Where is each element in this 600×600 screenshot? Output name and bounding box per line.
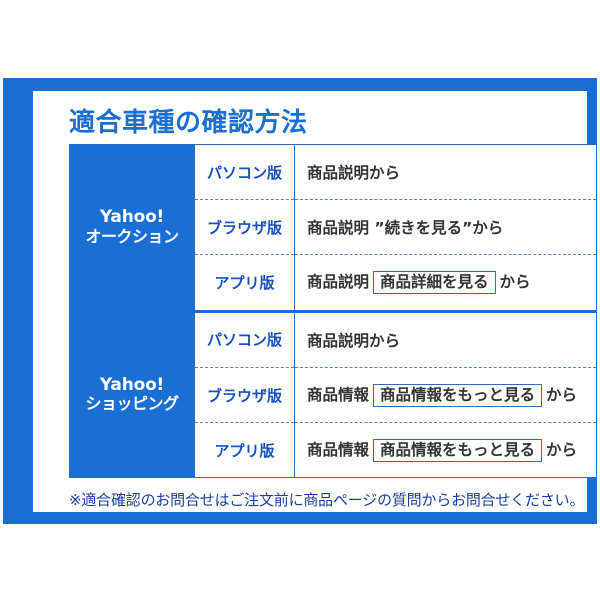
compatibility-table: Yahoo! オークション パソコン版 商品説明から ブラウザ版 商品説明 ”続… [69,144,597,478]
platform-label-browser: ブラウザ版 [195,200,295,255]
description-text-before: 商品情報 [307,386,369,404]
footer-note: ※適合確認のお問合せはご注文前に商品ページの質問からお問合せください。 [69,489,569,510]
description-cell: 商品説明から [295,145,597,200]
platform-label-app: アプリ版 [195,423,295,478]
brand-cell-shopping: Yahoo! ショッピング [70,313,195,478]
description-cell: 商品説明 ”続きを見る”から [295,200,597,255]
platform-label-pc: パソコン版 [195,313,295,368]
description-text-before: 商品説明から [307,164,400,182]
description-cell: 商品説明から [295,313,597,368]
platform-label-pc: パソコン版 [195,145,295,200]
brand-label-line2: オークション [70,228,194,246]
banner-inner-panel: 適合車種の確認方法 Yahoo! オークション パソコン版 商品説明から ブラウ… [33,91,587,512]
brand-cell-auction: Yahoo! オークション [70,145,195,310]
description-text-before: 商品説明から [307,332,400,350]
description-cell: 商品説明商品詳細を見るから [295,255,597,310]
platform-label-app: アプリ版 [195,255,295,310]
description-cell: 商品情報商品情報をもっと見るから [295,368,597,423]
description-text-after: から [546,386,577,404]
description-cell: 商品情報商品情報をもっと見るから [295,423,597,478]
description-text-before: 商品説明 [307,273,369,291]
description-text-after: から [546,441,577,459]
compatibility-table-body: Yahoo! オークション パソコン版 商品説明から ブラウザ版 商品説明 ”続… [70,145,597,478]
page-title: 適合車種の確認方法 [69,110,569,136]
table-row: Yahoo! ショッピング パソコン版 商品説明から [70,313,597,368]
platform-label-browser: ブラウザ版 [195,368,295,423]
brand-label-line2: ショッピング [70,395,194,413]
description-text-after: から [500,273,531,291]
table-row: Yahoo! オークション パソコン版 商品説明から [70,145,597,200]
description-text-before: 商品情報 [307,441,369,459]
compatibility-banner: 適合車種の確認方法 Yahoo! オークション パソコン版 商品説明から ブラウ… [3,78,597,524]
inline-button-more-info[interactable]: 商品情報をもっと見る [373,439,542,463]
inline-button-more-info[interactable]: 商品情報をもっと見る [373,384,542,408]
brand-label-line1: Yahoo! [70,208,194,228]
brand-label-line1: Yahoo! [70,376,194,396]
description-text-before: 商品説明 ”続きを見る”から [307,219,503,237]
inline-button-product-detail[interactable]: 商品詳細を見る [373,271,496,295]
